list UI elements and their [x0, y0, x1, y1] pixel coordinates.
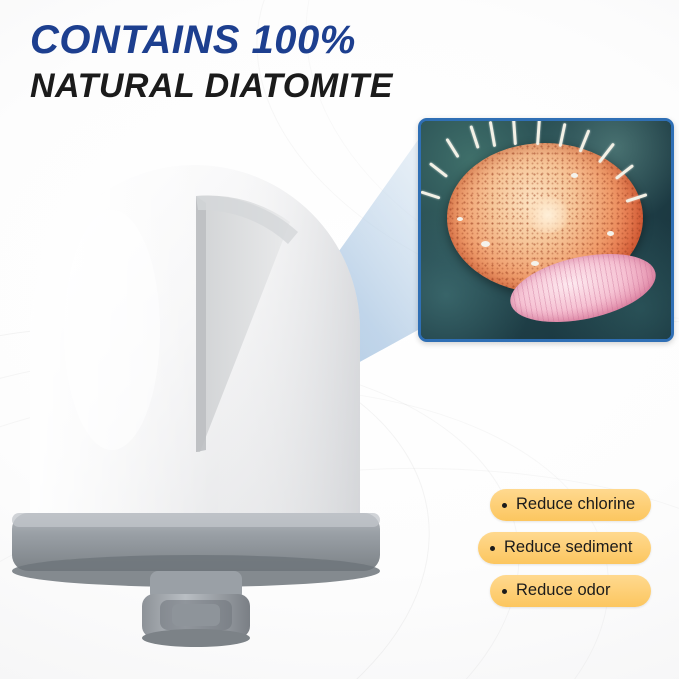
- debris-particle: [607, 231, 614, 236]
- list-item-label: Reduce chlorine: [516, 495, 635, 513]
- list-item: Reduce chlorine: [490, 489, 651, 521]
- bullet-dot-icon: [502, 503, 507, 508]
- list-item-label: Reduce odor: [516, 581, 610, 599]
- debris-particle: [457, 217, 463, 221]
- diatom-micrograph: [418, 118, 674, 342]
- debris-particle: [481, 241, 490, 247]
- benefits-list: Reduce chlorine Reduce sediment Reduce o…: [472, 489, 651, 607]
- list-item: Reduce sediment: [478, 532, 651, 564]
- debris-particle: [571, 173, 578, 178]
- list-item: Reduce odor: [490, 575, 651, 607]
- bullet-dot-icon: [490, 546, 495, 551]
- list-item-label: Reduce sediment: [504, 538, 632, 556]
- bullet-dot-icon: [502, 589, 507, 594]
- product-infographic: CONTAINS 100% NATURAL DIATOMITE: [0, 0, 679, 679]
